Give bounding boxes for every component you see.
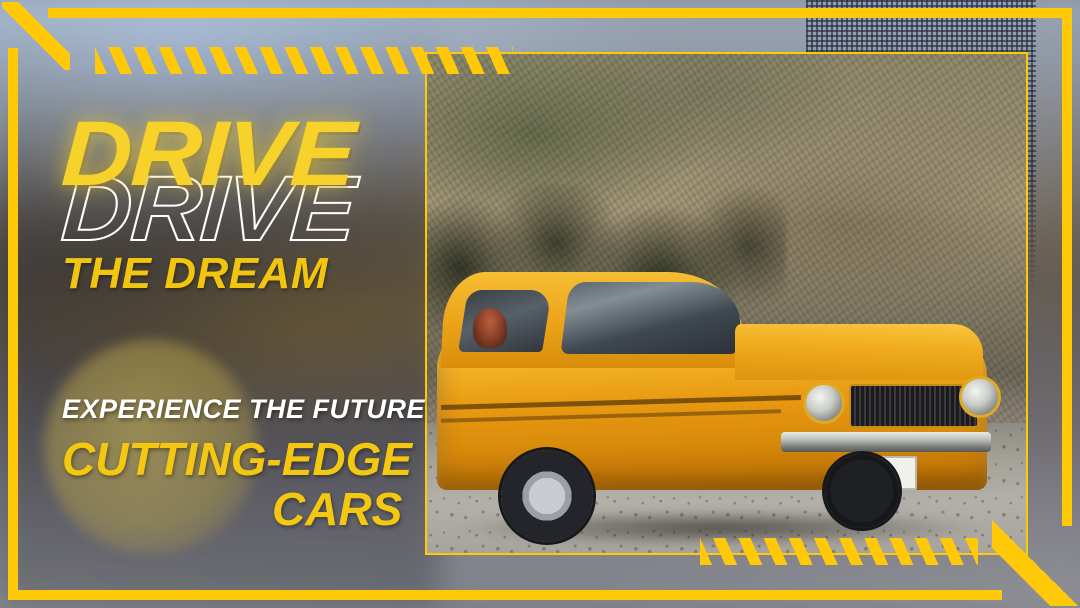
headline-fill: DRIVE bbox=[59, 108, 357, 200]
tagline-line-2: CARS bbox=[272, 486, 402, 532]
driver-figure bbox=[473, 308, 507, 348]
headlight-left bbox=[803, 382, 845, 424]
hazard-stripes-bottom bbox=[700, 538, 978, 565]
headlight-right bbox=[959, 376, 1001, 418]
tagline-line-1: CUTTING-EDGE bbox=[62, 436, 412, 482]
car-photo bbox=[425, 52, 1028, 555]
photo-scene bbox=[427, 54, 1026, 553]
frame-edge-right bbox=[1062, 8, 1072, 526]
headline-block: DRIVE DRIVE THE DREAM EXPERIENCE THE FUT… bbox=[0, 0, 430, 608]
subheadline: THE DREAM bbox=[62, 252, 328, 296]
front-bumper bbox=[781, 432, 991, 452]
classic-car bbox=[429, 264, 1009, 555]
kicker-text: EXPERIENCE THE FUTURE bbox=[62, 396, 425, 423]
car-hood bbox=[735, 324, 983, 380]
poster-canvas: DRIVE DRIVE THE DREAM EXPERIENCE THE FUT… bbox=[0, 0, 1080, 608]
frame-corner-top-left-diagonal bbox=[2, 2, 70, 70]
rear-wheel bbox=[501, 450, 593, 542]
frame-edge-left bbox=[8, 48, 18, 600]
windshield bbox=[561, 282, 746, 354]
frame-edge-bottom bbox=[8, 590, 1002, 600]
front-wheel bbox=[825, 454, 899, 528]
frame-edge-top bbox=[48, 8, 1072, 18]
frame-corner-bottom-right-diagonal bbox=[992, 520, 1078, 606]
